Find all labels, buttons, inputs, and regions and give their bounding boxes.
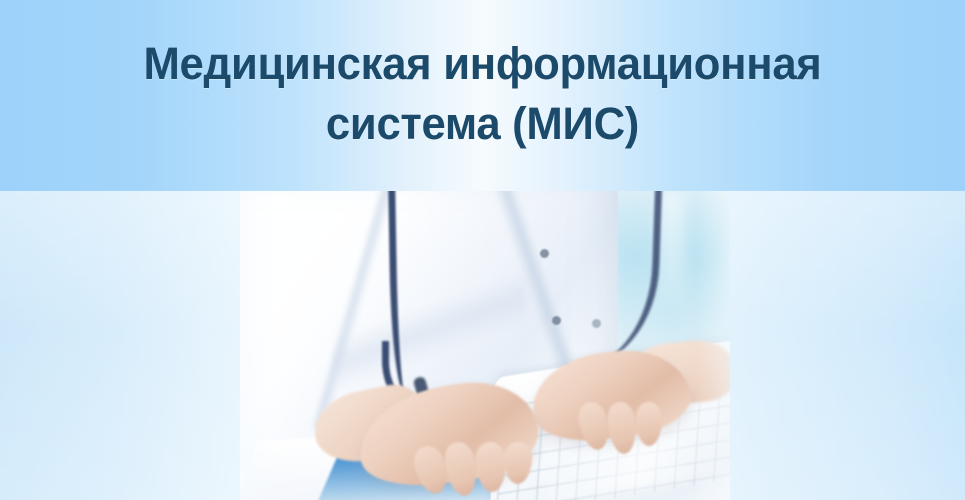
header-banner: Медицинская информационная система (МИС) xyxy=(0,0,965,191)
page-title-line-1: Медицинская информационная xyxy=(143,34,821,94)
slide-root: Медицинская информационная система (МИС) xyxy=(0,0,965,500)
photo-region xyxy=(0,191,965,500)
page-title-line-2: система (МИС) xyxy=(143,94,821,154)
page-title: Медицинская информационная система (МИС) xyxy=(143,34,821,154)
doctor-typing-photo xyxy=(240,191,730,500)
